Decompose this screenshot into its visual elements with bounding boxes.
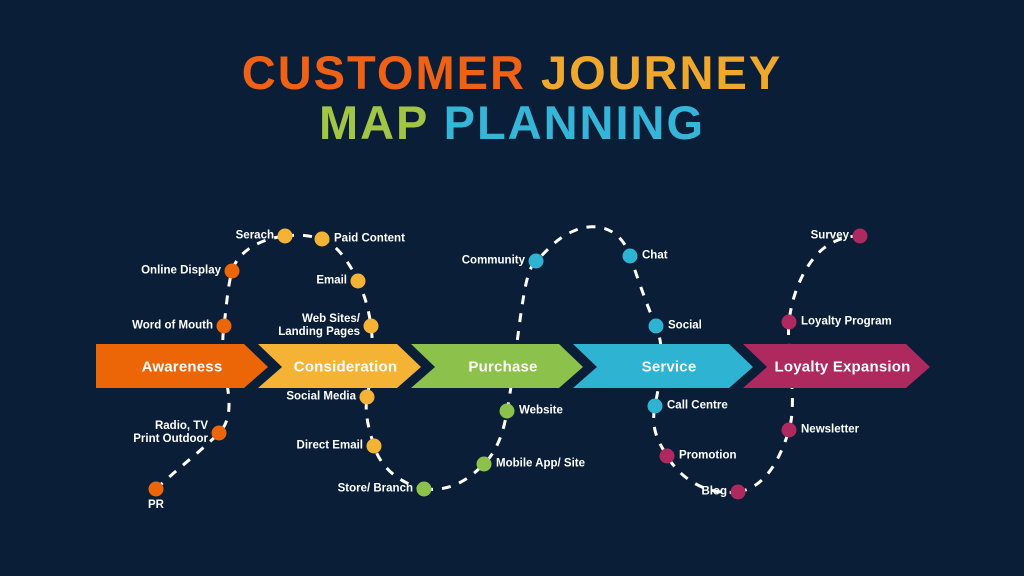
- touchpoint-dot-chat[interactable]: [623, 249, 638, 264]
- touchpoint-label-pr: PR: [148, 499, 164, 512]
- touchpoint-label-mobile-app-site: Mobile App/ Site: [496, 458, 585, 471]
- stage-label-service: Service: [642, 359, 697, 376]
- touchpoint-label-store-branch: Store/ Branch: [338, 483, 413, 496]
- touchpoint-label-chat: Chat: [642, 250, 668, 263]
- touchpoint-dot-loyalty-program[interactable]: [782, 315, 797, 330]
- infographic-canvas: CUSTOMER JOURNEY MAP PLANNING AwarenessC…: [0, 0, 1024, 576]
- touchpoint-dot-survey[interactable]: [853, 229, 868, 244]
- touchpoint-label-social: Social: [668, 320, 702, 333]
- touchpoint-label-email: Email: [316, 275, 347, 288]
- touchpoint-dot-promotion[interactable]: [660, 449, 675, 464]
- touchpoint-dot-blog[interactable]: [731, 485, 746, 500]
- touchpoint-label-newsletter: Newsletter: [801, 424, 859, 437]
- touchpoint-label-radio-tv-print-outdoor: Radio, TV Print Outdoor: [133, 420, 208, 446]
- touchpoint-dot-social-media[interactable]: [360, 390, 375, 405]
- touchpoint-dot-community[interactable]: [529, 254, 544, 269]
- touchpoint-label-online-display: Online Display: [141, 265, 221, 278]
- touchpoint-label-website: Website: [519, 405, 563, 418]
- touchpoint-label-community: Community: [462, 255, 525, 268]
- touchpoint-dot-radio-tv-print-outdoor[interactable]: [212, 426, 227, 441]
- stage-label-awareness: Awareness: [142, 359, 223, 376]
- stage-label-loyalty: Loyalty Expansion: [775, 359, 911, 376]
- journey-diagram: [0, 0, 1024, 576]
- stage-label-consideration: Consideration: [294, 359, 397, 376]
- touchpoint-label-promotion: Promotion: [679, 450, 737, 463]
- stage-label-purchase: Purchase: [468, 359, 537, 376]
- touchpoint-dot-social[interactable]: [649, 319, 664, 334]
- touchpoint-label-loyalty-program: Loyalty Program: [801, 316, 892, 329]
- touchpoint-dot-mobile-app-site[interactable]: [477, 457, 492, 472]
- touchpoint-dot-serach[interactable]: [278, 229, 293, 244]
- touchpoint-dot-email[interactable]: [351, 274, 366, 289]
- touchpoint-dot-direct-email[interactable]: [367, 439, 382, 454]
- touchpoint-dot-pr[interactable]: [149, 482, 164, 497]
- touchpoint-label-paid-content: Paid Content: [334, 233, 405, 246]
- touchpoint-label-web-sites-landing-pages: Web Sites/ Landing Pages: [278, 313, 360, 339]
- touchpoint-dot-call-centre[interactable]: [648, 399, 663, 414]
- touchpoint-label-call-centre: Call Centre: [667, 400, 728, 413]
- touchpoint-dot-store-branch[interactable]: [417, 482, 432, 497]
- touchpoint-label-direct-email: Direct Email: [297, 440, 363, 453]
- touchpoint-label-social-media: Social Media: [286, 391, 356, 404]
- touchpoint-dot-newsletter[interactable]: [782, 423, 797, 438]
- touchpoint-label-serach: Serach: [236, 230, 274, 243]
- touchpoint-dot-paid-content[interactable]: [315, 232, 330, 247]
- touchpoint-dot-website[interactable]: [500, 404, 515, 419]
- touchpoint-label-survey: Survey: [811, 230, 849, 243]
- touchpoint-dot-online-display[interactable]: [225, 264, 240, 279]
- touchpoint-label-blog: Blog: [701, 486, 727, 499]
- touchpoint-dot-word-of-mouth[interactable]: [217, 319, 232, 334]
- touchpoint-dot-web-sites-landing-pages[interactable]: [364, 319, 379, 334]
- touchpoint-label-word-of-mouth: Word of Mouth: [132, 320, 213, 333]
